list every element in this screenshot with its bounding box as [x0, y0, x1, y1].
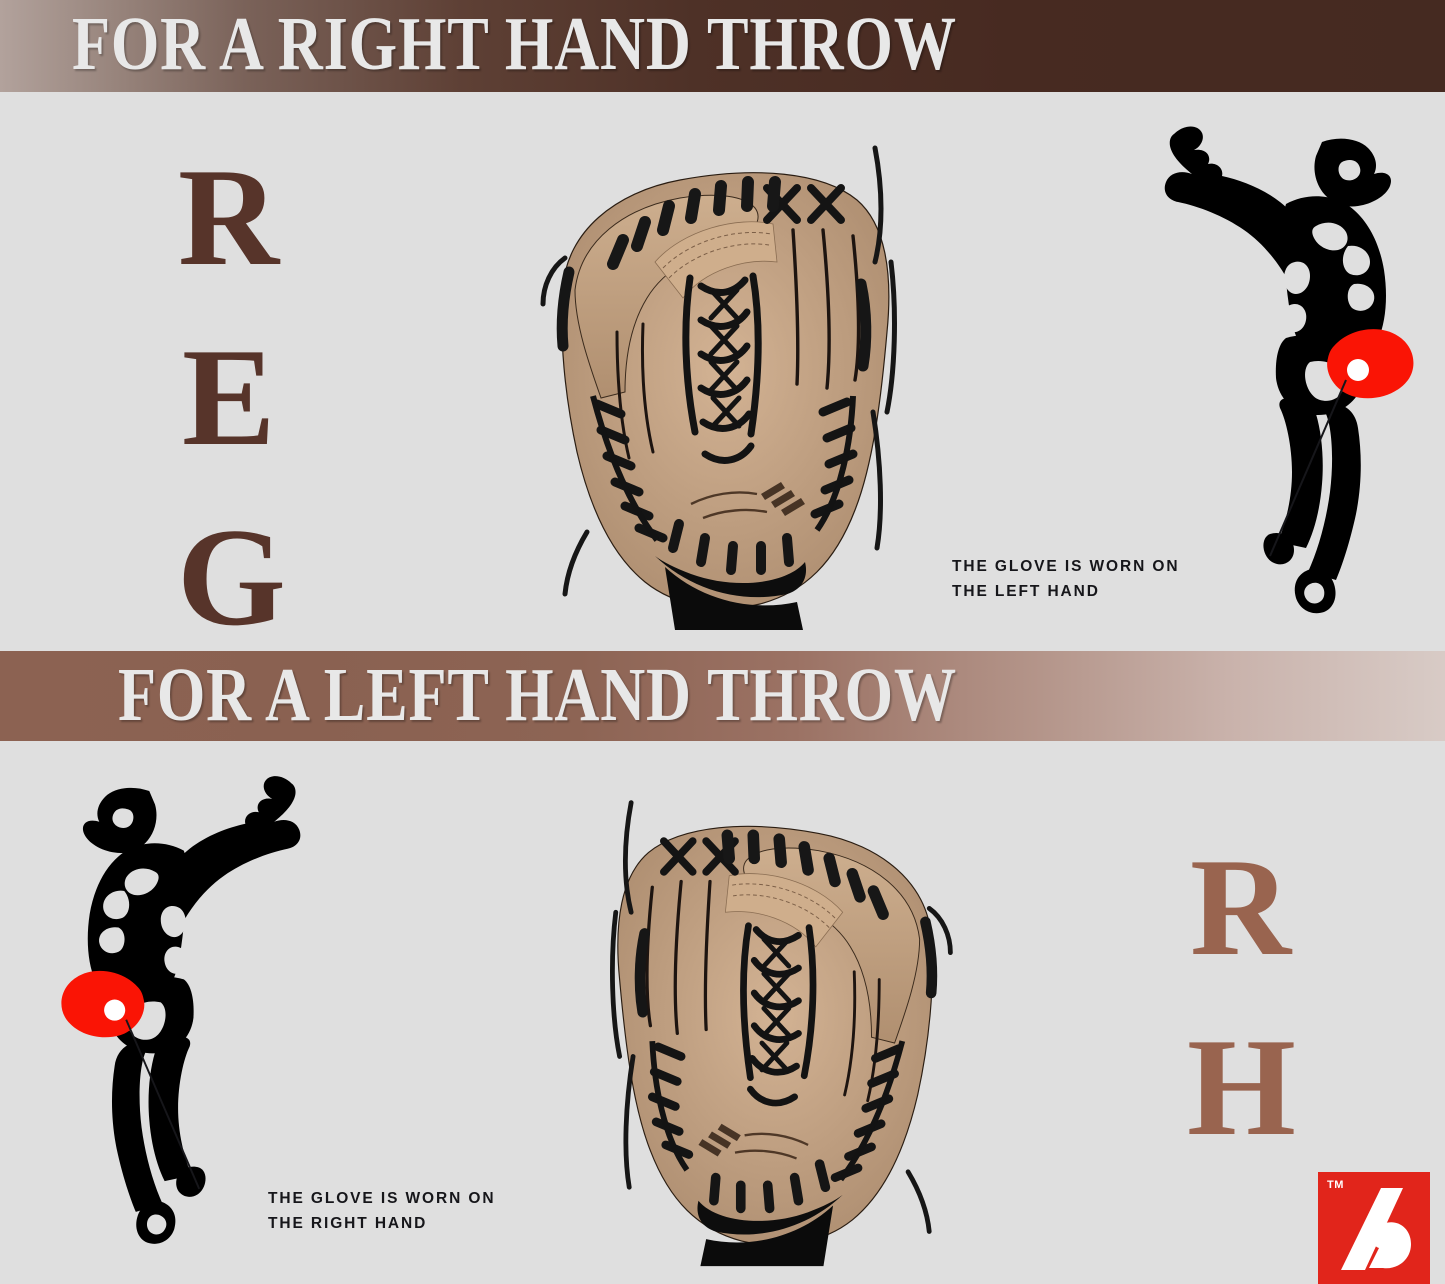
code-letter-g-top: G — [177, 508, 286, 648]
pitcher-silhouette-left-hand — [1150, 118, 1430, 628]
callout-text-left-hand: THE GLOVE IS WORN ON THE LEFT HAND — [952, 554, 1179, 604]
infographic-canvas: FOR A RIGHT HAND THROW R E G — [0, 0, 1445, 1284]
code-letter-e-top: E — [182, 328, 275, 468]
pitcher-silhouette-right-hand — [40, 768, 320, 1258]
banner-right-hand-throw-label: FOR A RIGHT HAND THROW — [72, 1, 957, 88]
banner-left-hand-throw: FOR A LEFT HAND THROW — [0, 651, 1445, 741]
code-letter-r-bottom: R — [1190, 838, 1291, 978]
banner-left-hand-throw-label: FOR A LEFT HAND THROW — [118, 652, 957, 739]
baseball-in-glove — [104, 1000, 125, 1021]
code-letter-h-bottom: H — [1187, 1018, 1296, 1158]
code-letter-r-top: R — [178, 148, 279, 288]
glove-image-right-hand-throw — [505, 112, 925, 632]
callout-text-right-hand: THE GLOVE IS WORN ON THE RIGHT HAND — [268, 1186, 495, 1236]
barnett-b-mark — [1331, 1184, 1417, 1274]
banner-right-hand-throw: FOR A RIGHT HAND THROW — [0, 0, 1445, 92]
glove-image-left-hand-throw — [575, 768, 995, 1268]
baseball-in-glove — [1347, 359, 1369, 381]
barnett-logo: TM — [1318, 1172, 1430, 1284]
